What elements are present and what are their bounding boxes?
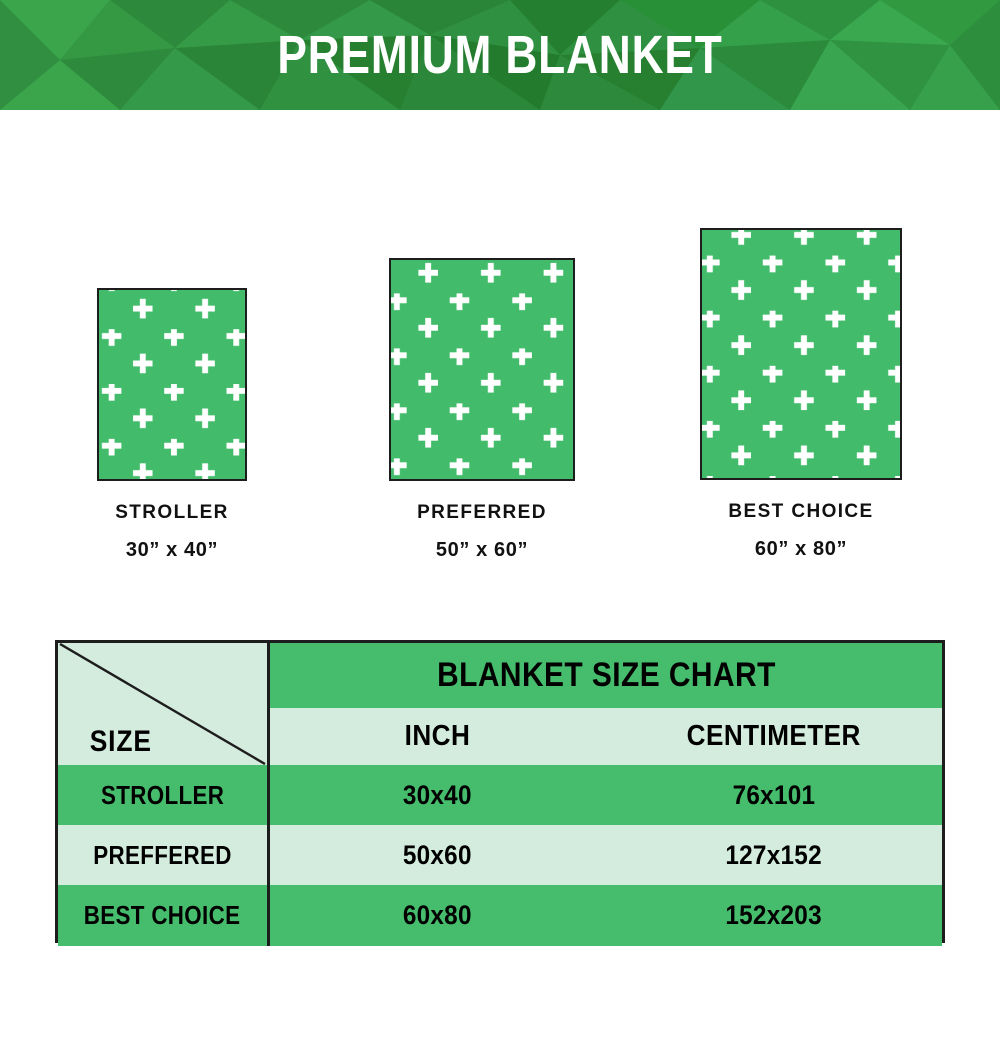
table-cell-size-stroller-text: STROLLER	[101, 780, 224, 811]
table-cell-size-preffered: PREFFERED	[58, 825, 269, 885]
swatch-caption-stroller: STROLLER	[57, 503, 287, 523]
page-header-banner: PREMIUM BLANKET	[0, 0, 1000, 110]
table-cell-inch-preffered-text: 50x60	[403, 840, 472, 871]
swatch-dimensions-preferred: 50” x 60”	[367, 539, 597, 562]
swatch-dimensions-best-choice: 60” x 80”	[685, 538, 917, 561]
table-header-inch-text: INCH	[405, 720, 471, 753]
table-row: STROLLER 30x40 76x101	[58, 765, 942, 825]
swatch-group-stroller: STROLLER 30” x 40”	[57, 288, 287, 562]
table-cell-centimeter-best-choice: 152x203	[605, 885, 942, 946]
table-cell-centimeter-stroller: 76x101	[605, 765, 942, 825]
swatch-caption-preferred: PREFERRED	[367, 503, 597, 523]
table-row-title: SIZE BLANKET SIZE CHART	[58, 643, 942, 708]
table-title-text: BLANKET SIZE CHART	[437, 656, 776, 695]
table-cell-size-stroller: STROLLER	[58, 765, 269, 825]
blanket-swatch-best-choice	[700, 228, 902, 480]
cross-pattern	[702, 230, 900, 478]
table-cell-size-best-choice-text: BEST CHOICE	[84, 900, 241, 931]
table-cell-inch-stroller-text: 30x40	[403, 780, 472, 811]
table-cell-size-preffered-text: PREFFERED	[93, 840, 232, 871]
swatch-group-preferred: PREFERRED 50” x 60”	[367, 258, 597, 562]
table-cell-centimeter-preffered-text: 127x152	[725, 840, 821, 871]
cross-pattern	[99, 290, 245, 479]
table-cell-centimeter-preffered: 127x152	[605, 825, 942, 885]
table-header-centimeter-text: CENTIMETER	[687, 720, 861, 753]
blanket-swatch-preferred	[389, 258, 575, 481]
swatch-dimensions-stroller: 30” x 40”	[57, 539, 287, 562]
table-header-inch: INCH	[269, 708, 606, 765]
table-row: BEST CHOICE 60x80 152x203	[58, 885, 942, 946]
swatch-group-best-choice: BEST CHOICE 60” x 80”	[685, 228, 917, 561]
cross-pattern	[391, 260, 573, 479]
blanket-swatch-stroller	[97, 288, 247, 481]
table-cell-size-best-choice: BEST CHOICE	[58, 885, 269, 946]
table-row: PREFFERED 50x60 127x152	[58, 825, 942, 885]
table-cell-inch-preffered: 50x60	[269, 825, 606, 885]
table-corner-label-text: SIZE	[90, 725, 152, 758]
swatch-caption-best-choice: BEST CHOICE	[685, 502, 917, 522]
table-corner-cell: SIZE	[58, 643, 269, 765]
table-cell-inch-best-choice-text: 60x80	[403, 900, 472, 931]
table-title-cell: BLANKET SIZE CHART	[269, 643, 943, 708]
table-corner-label: SIZE	[68, 725, 174, 759]
page-title: PREMIUM BLANKET	[90, 0, 910, 110]
blanket-size-chart-table: SIZE BLANKET SIZE CHART INCH CENTIMETER …	[55, 640, 945, 943]
table-cell-inch-stroller: 30x40	[269, 765, 606, 825]
table-cell-inch-best-choice: 60x80	[269, 885, 606, 946]
table-header-centimeter: CENTIMETER	[605, 708, 942, 765]
table-cell-centimeter-stroller-text: 76x101	[732, 780, 815, 811]
table-cell-centimeter-best-choice-text: 152x203	[725, 900, 821, 931]
